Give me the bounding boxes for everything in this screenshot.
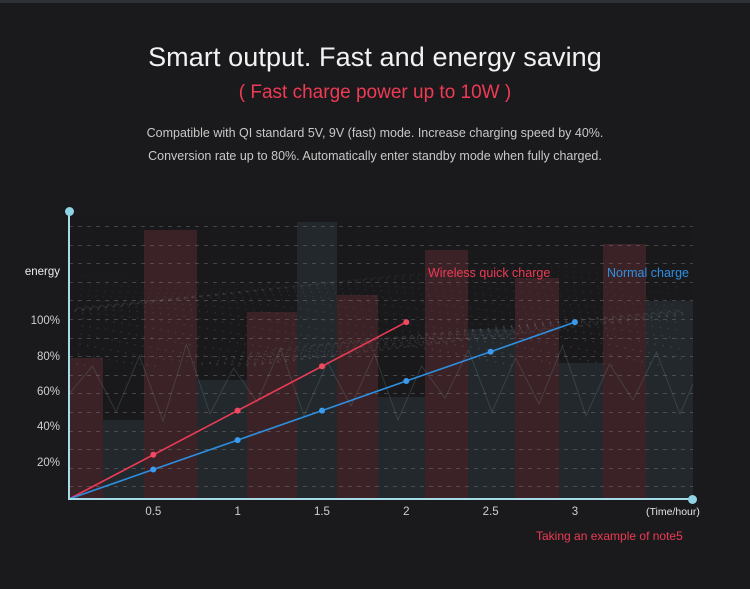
x-axis-title: (Time/hour) <box>646 506 700 518</box>
x-axis-line <box>69 498 694 500</box>
legend-normal-charge: Normal charge <box>607 266 689 280</box>
x-tick-label: 0.5 <box>133 506 173 518</box>
y-axis-line <box>68 213 70 500</box>
charging-speed-chart: energy 20%40%60%80%100% 0.511.522.53 (Ti… <box>0 0 750 589</box>
y-tick-label: 20% <box>0 457 60 469</box>
x-tick-label: 2.5 <box>471 506 511 518</box>
x-tick-label: 3 <box>555 506 595 518</box>
chart-plot-area <box>69 216 693 499</box>
x-axis-end-dot <box>688 495 697 504</box>
y-tick-label: 60% <box>0 386 60 398</box>
chart-footnote: Taking an example of note5 <box>536 529 683 543</box>
chart-series-lines <box>69 216 693 499</box>
x-tick-label: 2 <box>386 506 426 518</box>
legend-wireless-quick-charge: Wireless quick charge <box>428 266 550 280</box>
y-tick-label: 80% <box>0 351 60 363</box>
y-axis-title: energy <box>0 266 60 278</box>
y-tick-label: 100% <box>0 315 60 327</box>
x-tick-label: 1 <box>218 506 258 518</box>
x-tick-label: 1.5 <box>302 506 342 518</box>
y-axis-end-dot <box>65 207 74 216</box>
y-tick-label: 40% <box>0 421 60 433</box>
